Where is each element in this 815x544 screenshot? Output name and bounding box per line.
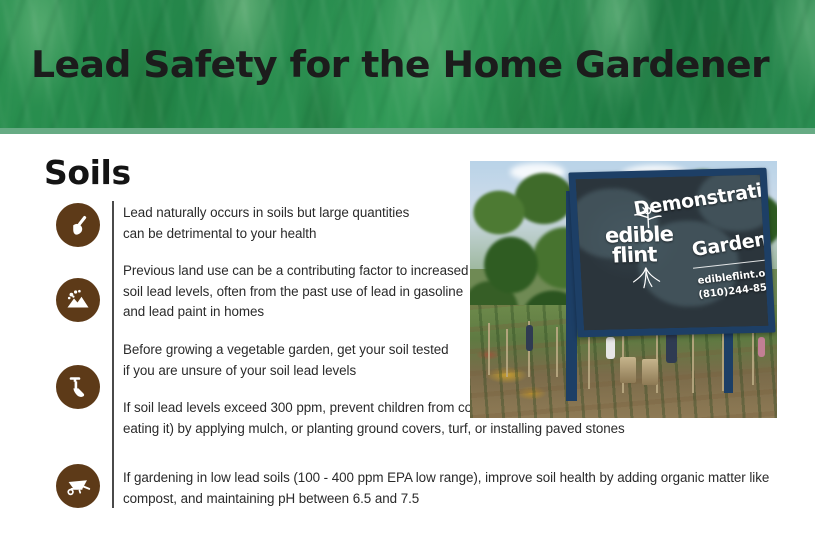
photo-gardener — [758, 337, 765, 357]
bullet-text-5: If gardening in low lead soils (100 - 40… — [123, 468, 793, 509]
photo-sign-logo-word-flint: flint — [612, 244, 693, 267]
photo-gardener — [526, 325, 533, 351]
spade-icon — [56, 365, 100, 409]
photo-garden-stake — [488, 323, 490, 375]
bullet-text-1: Lead naturally occurs in soils but large… — [123, 203, 433, 244]
bullet-text-3: Before growing a vegetable garden, get y… — [123, 340, 453, 381]
header-divider-rule — [0, 128, 815, 134]
bullet-text-2: Previous land use can be a contributing … — [123, 261, 473, 323]
soil-pile-icon — [56, 278, 100, 322]
photo-garden-stake — [752, 331, 754, 385]
section-title-soils: Soils — [44, 156, 131, 189]
photo-sign-post-right — [724, 331, 733, 393]
photo-wood-stump — [620, 357, 636, 383]
photo-garden-stake — [556, 327, 558, 377]
photo-gardener — [666, 333, 677, 363]
header-banner: Lead Safety for the Home Gardener — [0, 0, 815, 128]
photo-sign-face: Demonstration Garden — [576, 175, 768, 330]
demonstration-garden-photo: Demonstration Garden — [470, 161, 777, 418]
page-title: Lead Safety for the Home Gardener — [31, 47, 815, 84]
wheelbarrow-icon — [56, 464, 100, 508]
photo-sign-frame: Demonstration Garden — [568, 168, 775, 338]
bullet-list-divider — [112, 201, 114, 508]
photo-sign-logo: edible flint — [604, 225, 694, 301]
poster-page: Lead Safety for the Home Gardener Soils … — [0, 0, 815, 544]
photo-wood-stump — [642, 359, 658, 385]
photo-garden-stake — [506, 329, 508, 377]
photo-garden-stake — [588, 331, 590, 389]
photo-gardener — [606, 337, 615, 359]
photo-garden-stake — [692, 329, 694, 393]
shovel-icon — [56, 203, 100, 247]
